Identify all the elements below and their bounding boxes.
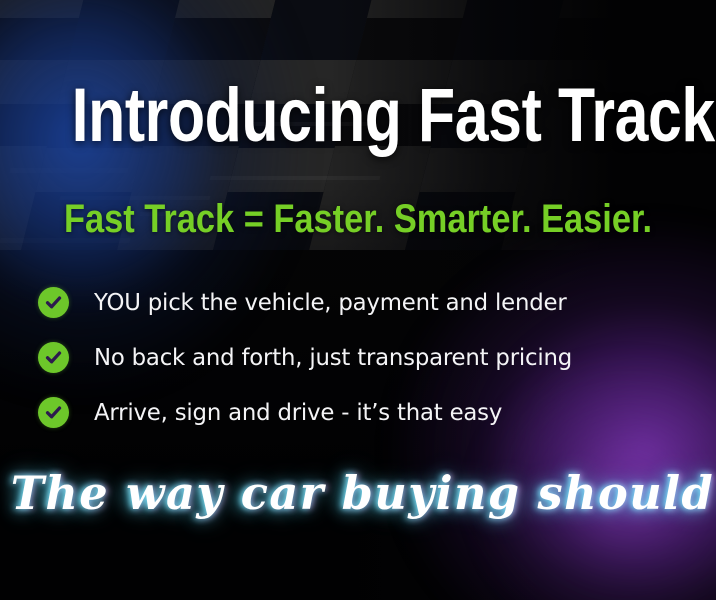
subtitle: Fast Track = Faster. Smarter. Easier. <box>50 199 666 239</box>
check-circle-icon <box>38 342 69 373</box>
list-item: No back and forth, just transparent pric… <box>38 341 678 373</box>
list-item-label: Arrive, sign and drive - it’s that easy <box>94 398 502 426</box>
tagline: The way car buying should be. <box>11 470 706 516</box>
list-item-label: No back and forth, just transparent pric… <box>94 343 572 371</box>
promo-poster: Introducing Fast Track Fast Track = Fast… <box>0 0 716 600</box>
list-item-label: YOU pick the vehicle, payment and lender <box>94 288 566 316</box>
list-item: Arrive, sign and drive - it’s that easy <box>38 396 678 428</box>
check-circle-icon <box>38 397 69 428</box>
list-item: YOU pick the vehicle, payment and lender <box>38 286 678 318</box>
page-title: Introducing Fast Track <box>72 78 645 154</box>
check-circle-icon <box>38 287 69 318</box>
benefit-list: YOU pick the vehicle, payment and lender… <box>38 286 678 451</box>
